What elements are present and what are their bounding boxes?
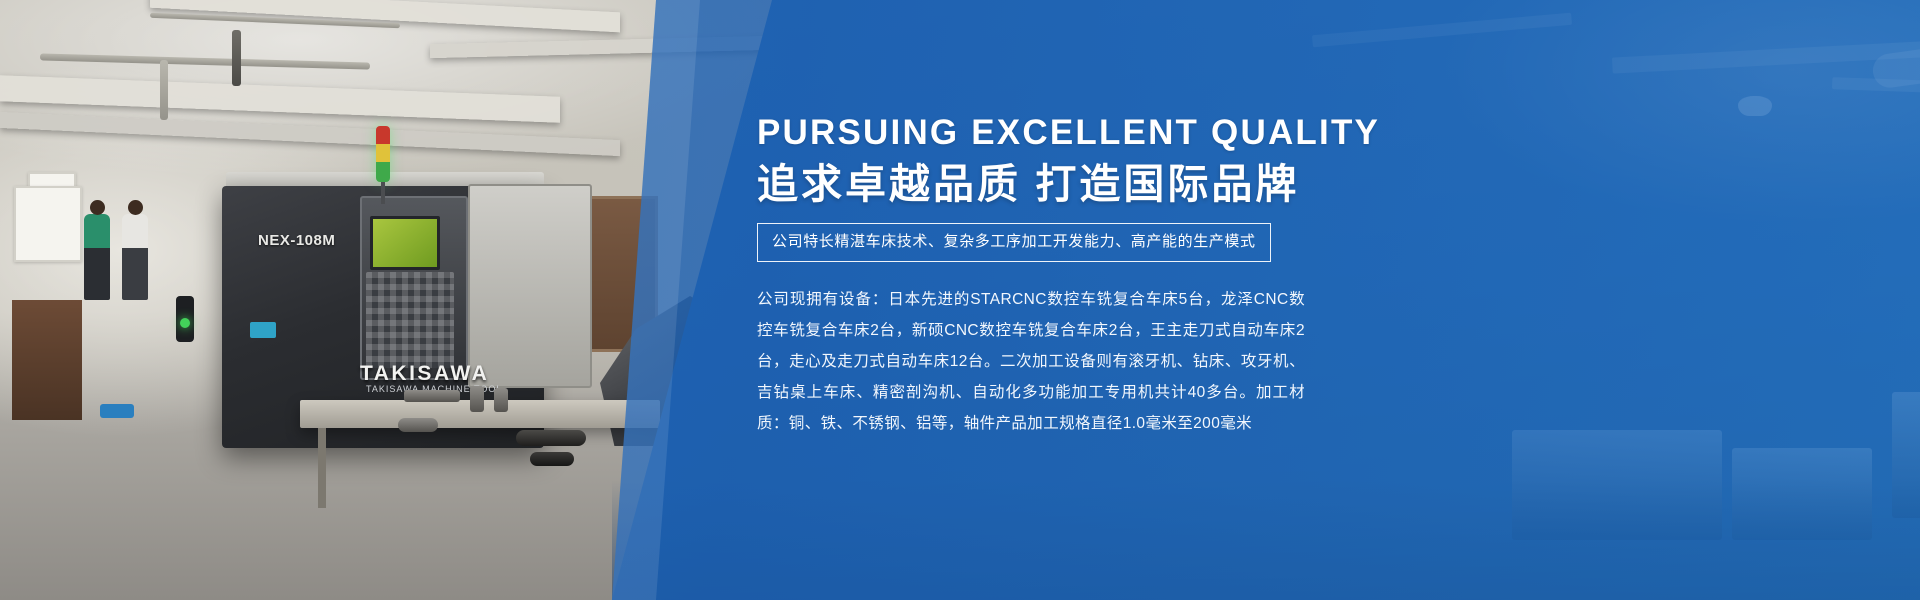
headline-chinese: 追求卓越品质 打造国际品牌 xyxy=(757,159,1317,209)
banner-content: PURSUING EXCELLENT QUALITY 追求卓越品质 打造国际品牌… xyxy=(757,112,1317,439)
machine-sticker xyxy=(250,322,276,338)
worker-head xyxy=(128,200,143,215)
work-bench-leg xyxy=(318,428,326,508)
signal-tower-light xyxy=(376,126,390,182)
lathe-model-label: NEX-108M xyxy=(258,232,335,249)
status-indicator-light xyxy=(176,296,194,342)
worker-head xyxy=(90,200,105,215)
workshop-door xyxy=(12,300,82,420)
machined-part xyxy=(398,418,438,432)
hero-banner: NEX-108M TAKISAWA TAKISAWA MACHINE TOOL xyxy=(0,0,1920,600)
machined-part xyxy=(404,390,460,402)
headline-english: PURSUING EXCELLENT QUALITY xyxy=(757,112,1317,153)
wall-poster xyxy=(14,186,82,262)
signal-tower-pole xyxy=(381,182,385,204)
machined-part xyxy=(516,430,586,446)
cnc-display-screen xyxy=(370,216,440,270)
worker-figure xyxy=(122,214,148,300)
lathe-brand-label: TAKISAWA xyxy=(360,362,489,386)
ceiling-pipe xyxy=(160,60,168,120)
company-description-paragraph: 公司现拥有设备：日本先进的STARCNC数控车铣复合车床5台，龙泽CNC数控车铣… xyxy=(757,284,1305,439)
ceiling-conduit xyxy=(232,30,241,86)
lathe-enclosure xyxy=(468,184,592,388)
ceiling-pipe xyxy=(40,53,370,69)
machined-part xyxy=(470,386,484,412)
cnc-keypad xyxy=(366,272,454,368)
machined-part xyxy=(494,388,508,412)
worker-figure xyxy=(84,214,110,300)
machined-part xyxy=(530,452,574,466)
machined-part xyxy=(100,404,134,418)
tagline-box: 公司特长精湛车床技术、复杂多工序加工开发能力、高产能的生产模式 xyxy=(757,223,1271,262)
